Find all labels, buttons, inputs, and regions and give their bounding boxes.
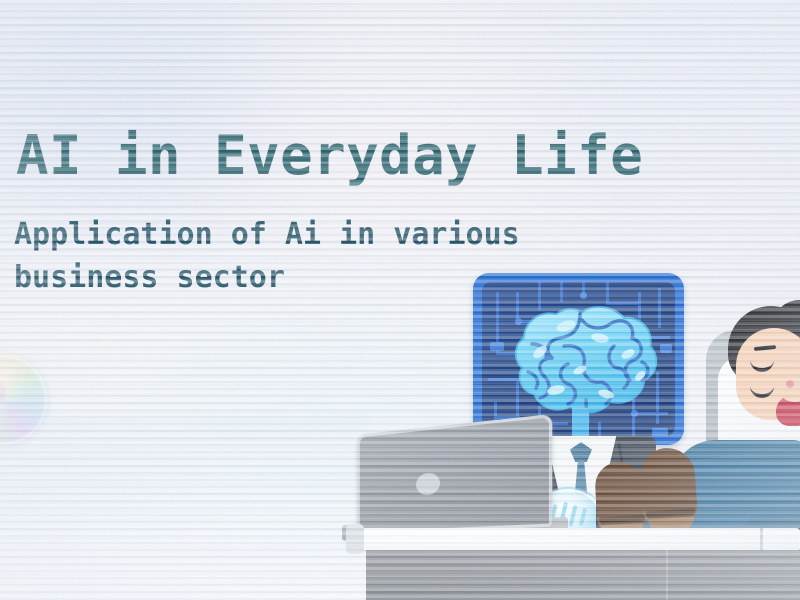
background-bloom xyxy=(0,0,280,220)
desk-front-panel xyxy=(366,550,800,600)
subtitle-line-1: Application of Ai in various xyxy=(14,214,534,257)
open-mouth xyxy=(776,396,800,426)
desk-top xyxy=(352,528,800,550)
circuit-node xyxy=(580,292,587,299)
laptop[interactable] xyxy=(336,425,566,537)
legs-on-desk xyxy=(600,452,800,538)
desk-panel-seam xyxy=(666,550,668,600)
background-bloom xyxy=(520,0,800,220)
brain-stem xyxy=(572,408,589,436)
laptop-lid xyxy=(357,414,552,535)
cheek-mark xyxy=(786,380,794,388)
desk-seam xyxy=(760,528,763,550)
circuit-trace xyxy=(560,282,563,302)
page-title: AI in Everyday Life xyxy=(16,124,643,187)
subtitle-line-2: business sector xyxy=(14,257,534,300)
page-subtitle: Application of Ai in various business se… xyxy=(14,214,534,299)
slide-canvas: AI in Everyday Life Application of Ai in… xyxy=(0,0,800,600)
circuit-pad xyxy=(490,342,504,351)
shoe-sole xyxy=(599,515,645,523)
circuit-trace xyxy=(598,422,601,436)
shoe xyxy=(639,446,699,534)
